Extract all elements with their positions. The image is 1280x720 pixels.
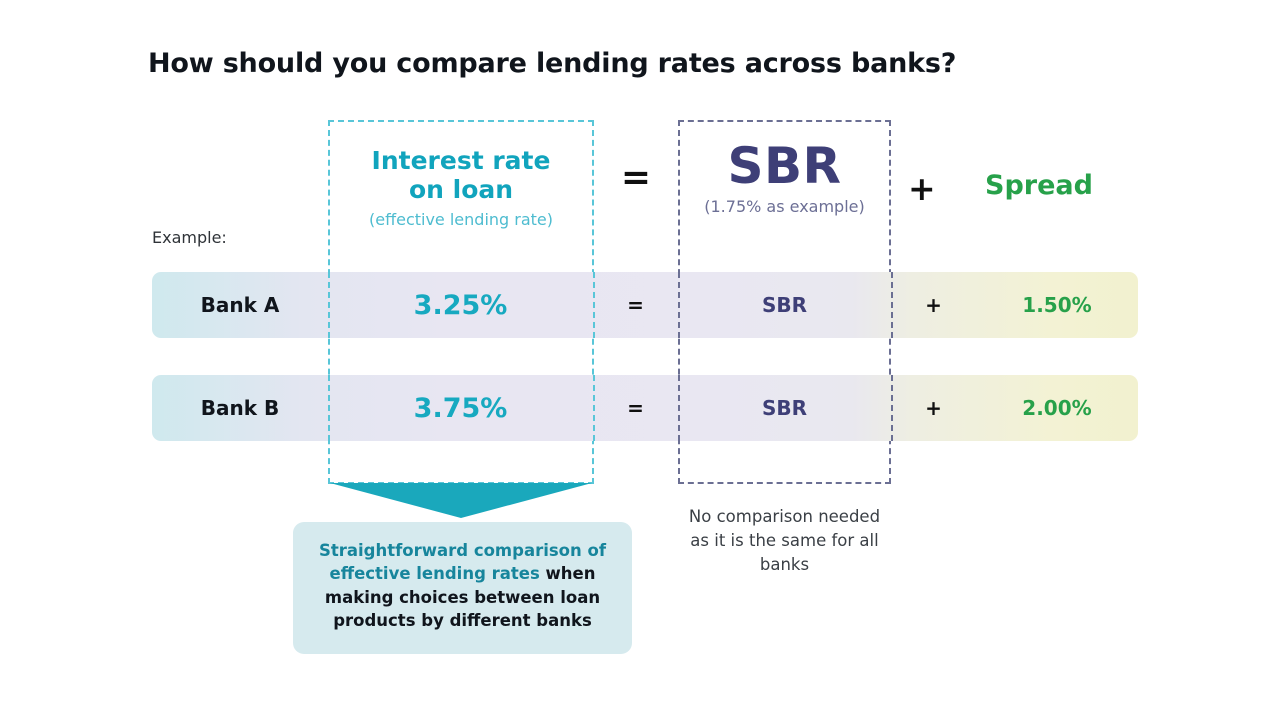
sbr-cell: SBR — [678, 272, 891, 338]
interest-rate-subheader: (effective lending rate) — [328, 210, 594, 229]
column-divider-interest-right — [593, 375, 595, 441]
interest-rate-cell: 3.25% — [328, 272, 593, 338]
column-divider-interest-left — [328, 375, 330, 441]
column-divider-interest-right — [593, 272, 595, 338]
plus-symbol-header: + — [908, 172, 936, 205]
table-row: Bank A 3.25% = SBR + 1.50% — [152, 272, 1138, 338]
plus-symbol-cell: + — [891, 375, 976, 441]
column-divider-interest-left — [328, 272, 330, 338]
sbr-cell: SBR — [678, 375, 891, 441]
column-divider-sbr-right — [891, 375, 893, 441]
equals-symbol-cell: = — [593, 375, 678, 441]
table-row: Bank B 3.75% = SBR + 2.00% — [152, 375, 1138, 441]
sbr-subheader: (1.75% as example) — [678, 197, 891, 216]
bank-name-cell: Bank B — [152, 375, 328, 441]
column-divider-sbr-left — [678, 272, 680, 338]
example-label: Example: — [152, 228, 227, 247]
infographic-canvas: How should you compare lending rates acr… — [0, 0, 1280, 720]
sbr-header: SBR (1.75% as example) — [678, 140, 891, 216]
bank-name-cell: Bank A — [152, 272, 328, 338]
page-title: How should you compare lending rates acr… — [148, 48, 956, 79]
interest-rate-header-line1: Interest rate — [328, 146, 594, 175]
column-divider-sbr-left — [678, 375, 680, 441]
column-divider-sbr-right — [891, 272, 893, 338]
equals-symbol-cell: = — [593, 272, 678, 338]
down-arrow-icon — [330, 483, 592, 518]
spread-cell: 2.00% — [976, 375, 1138, 441]
interest-rate-cell: 3.75% — [328, 375, 593, 441]
sbr-header-label: SBR — [678, 140, 891, 193]
sbr-note-text: No comparison needed as it is the same f… — [678, 505, 891, 577]
interest-rate-header-line2: on loan — [328, 175, 594, 204]
spread-cell: 1.50% — [976, 272, 1138, 338]
equals-symbol-header: = — [600, 160, 672, 196]
callout-box: Straightforward comparison of effective … — [293, 522, 632, 654]
plus-symbol-cell: + — [891, 272, 976, 338]
interest-rate-header: Interest rate on loan (effective lending… — [328, 146, 594, 229]
spread-header: Spread — [985, 172, 1093, 199]
